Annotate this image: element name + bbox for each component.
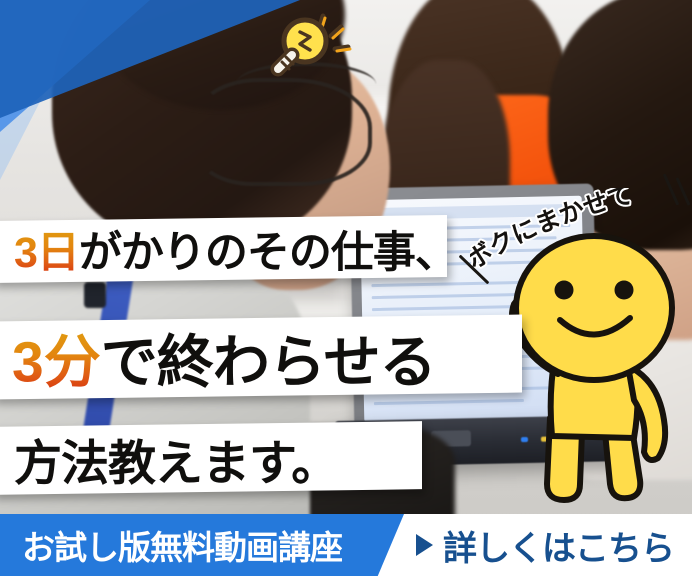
- cta-primary-label: お試し版無料動画講座: [0, 521, 342, 569]
- headline-rest-3: 方法教えます。: [14, 438, 338, 491]
- promo-banner: ボクにまかせて: [0, 0, 692, 576]
- headline-line-3: 方法教えます。: [0, 421, 422, 495]
- cta-secondary-label: 詳しくはこちら: [443, 521, 674, 570]
- headline-line-2: 3分で終わらせる: [0, 315, 522, 400]
- lightbulb-icon: [262, 8, 362, 82]
- headline-highlight-1: 3日: [14, 229, 79, 277]
- play-triangle-icon: [416, 534, 433, 556]
- headline-rest-2: で終わらせる: [101, 331, 436, 395]
- headline-rest-1: がかりのその仕事、: [79, 229, 457, 277]
- headline-line-1: 3日がかりのその仕事、: [0, 215, 447, 283]
- corner-triangle-dark: [0, 0, 300, 118]
- cta-secondary-link[interactable]: 詳しくはこちら: [404, 514, 692, 576]
- headline-highlight-2: 3分: [12, 331, 101, 395]
- cta-primary-button[interactable]: お試し版無料動画講座: [0, 514, 404, 576]
- cta-bar: お試し版無料動画講座 詳しくはこちら: [0, 514, 692, 576]
- yellow-character-mascot: [492, 232, 692, 518]
- lanyard-clip: [84, 282, 106, 308]
